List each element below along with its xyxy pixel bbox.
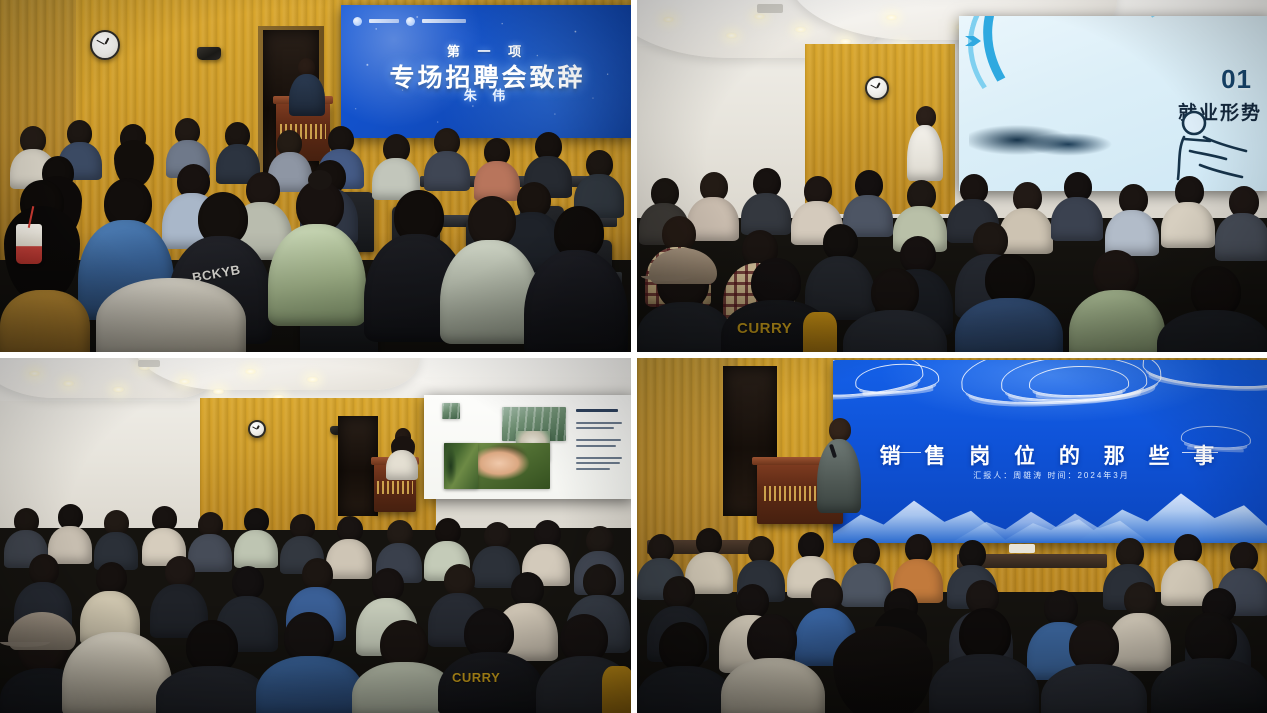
audience-person bbox=[142, 506, 186, 560]
slide-kicker: 第 一 项 bbox=[341, 41, 634, 60]
audience-person-foreground bbox=[955, 254, 1063, 355]
panel-top-right: 01 就业形势 bbox=[634, 0, 1267, 355]
photo-collage: 第 一 项 专场招聘会致辞 朱 伟 bbox=[0, 0, 1267, 713]
audience-person-foreground bbox=[268, 180, 366, 322]
ceiling-vent bbox=[138, 360, 160, 367]
audience-person bbox=[234, 508, 278, 562]
audience-person bbox=[522, 520, 570, 578]
wall-clock-icon bbox=[865, 76, 889, 100]
audience-person-foreground bbox=[637, 248, 733, 355]
audience-person bbox=[893, 180, 947, 244]
audience-person-foreground bbox=[637, 622, 733, 713]
downlight-icon bbox=[306, 376, 319, 383]
audience-person bbox=[1051, 172, 1103, 234]
doorway bbox=[338, 416, 378, 516]
audience-person bbox=[843, 170, 893, 230]
slide-title: 销 售 岗 位 的 那 些 事 bbox=[833, 440, 1267, 470]
audience-person-curry-jacket: CURRY bbox=[721, 258, 833, 355]
audience-person bbox=[741, 168, 791, 228]
panel-top-left: 第 一 项 专场招聘会致辞 朱 伟 bbox=[0, 0, 634, 355]
audience-person-foreground bbox=[0, 290, 90, 355]
downlight-icon bbox=[244, 368, 257, 375]
downlight-icon bbox=[178, 378, 191, 385]
wall-speaker-icon bbox=[197, 47, 221, 60]
university-logo-icon bbox=[353, 17, 362, 26]
drink-cup bbox=[16, 224, 42, 264]
audience-person bbox=[216, 122, 260, 176]
slide-presenter: 朱 伟 bbox=[341, 85, 634, 104]
slide-text-block bbox=[576, 409, 624, 470]
university-logo-text bbox=[369, 19, 399, 23]
speaker-person-2 bbox=[905, 106, 945, 180]
audience-person-foreground bbox=[1041, 620, 1147, 713]
downlight-icon bbox=[662, 16, 675, 23]
downlight-icon bbox=[753, 13, 766, 20]
audience-person bbox=[166, 118, 210, 170]
partner-logo-icon bbox=[406, 17, 415, 26]
jacket-sleeve bbox=[602, 666, 634, 713]
audience-person-curry-jacket-2: CURRY bbox=[438, 608, 544, 713]
audience-person-foreground bbox=[1157, 266, 1267, 355]
audience-person-foreground bbox=[929, 608, 1039, 713]
ink-splash-decor bbox=[969, 104, 1129, 176]
audience-person-foreground bbox=[536, 614, 634, 713]
audience-person-foreground bbox=[1151, 612, 1267, 713]
wall-clock-icon bbox=[248, 420, 266, 438]
projection-screen-4: 销 售 岗 位 的 那 些 事 汇报人：周雄涛 时间：2024年3月 bbox=[833, 360, 1267, 543]
slide-photo-fern bbox=[444, 443, 478, 489]
downlight-icon bbox=[725, 32, 738, 39]
audience-person bbox=[1215, 186, 1267, 252]
audience-person bbox=[574, 150, 624, 210]
audience-person-foreground bbox=[524, 206, 628, 355]
audience-person-foreground bbox=[833, 626, 933, 713]
downlight-icon bbox=[885, 14, 898, 21]
audience-person-foreground bbox=[0, 180, 86, 300]
downlight-icon bbox=[212, 388, 225, 395]
partner-logo-text bbox=[422, 19, 466, 23]
slide-logo-bar bbox=[353, 17, 466, 26]
paper-stack bbox=[1009, 544, 1035, 553]
audience-person bbox=[893, 534, 943, 594]
audience-person-foreground bbox=[96, 278, 246, 355]
audience-person bbox=[372, 134, 420, 192]
slide-section-number: 01 bbox=[1221, 64, 1252, 95]
audience-person bbox=[94, 510, 138, 564]
projection-screen-3 bbox=[424, 395, 634, 499]
audience-person-foreground bbox=[1069, 250, 1165, 355]
jacket-lettering: CURRY bbox=[737, 320, 792, 337]
audience-person-foreground bbox=[721, 614, 825, 713]
ceiling-vent bbox=[757, 4, 783, 13]
downlight-icon bbox=[62, 380, 75, 387]
jacket-lettering: CURRY bbox=[452, 670, 500, 685]
panel-bottom-right: 销 售 岗 位 的 那 些 事 汇报人：周雄涛 时间：2024年3月 bbox=[634, 355, 1267, 713]
podium-nameplate bbox=[377, 481, 412, 493]
speaker-person-4 bbox=[817, 418, 861, 510]
stick-figure-illustration bbox=[1154, 107, 1250, 185]
speaker-person-3 bbox=[386, 428, 418, 476]
audience-person bbox=[48, 504, 92, 558]
wall-clock-icon bbox=[90, 30, 120, 60]
panel-bottom-left: CURRY bbox=[0, 355, 634, 713]
audience-person-foreground bbox=[156, 620, 268, 713]
audience-person bbox=[424, 128, 470, 184]
speaker-body bbox=[289, 74, 325, 116]
audience-person bbox=[1105, 184, 1159, 248]
slide-subtitle: 汇报人：周雄涛 时间：2024年3月 bbox=[833, 470, 1267, 481]
jacket-sleeve bbox=[803, 312, 837, 355]
downlight-icon bbox=[28, 370, 41, 377]
audience-person bbox=[1161, 176, 1215, 240]
projection-screen-2: 01 就业形势 bbox=[959, 16, 1267, 191]
audience-person-foreground bbox=[256, 612, 364, 713]
projection-screen-1: 第 一 项 专场招聘会致辞 朱 伟 bbox=[341, 5, 634, 138]
downlight-icon bbox=[112, 386, 125, 393]
slide-photo-nursery bbox=[442, 403, 460, 419]
audience-person-foreground bbox=[843, 268, 947, 355]
downlight-icon bbox=[794, 26, 807, 33]
speaker-person-1 bbox=[288, 58, 326, 114]
